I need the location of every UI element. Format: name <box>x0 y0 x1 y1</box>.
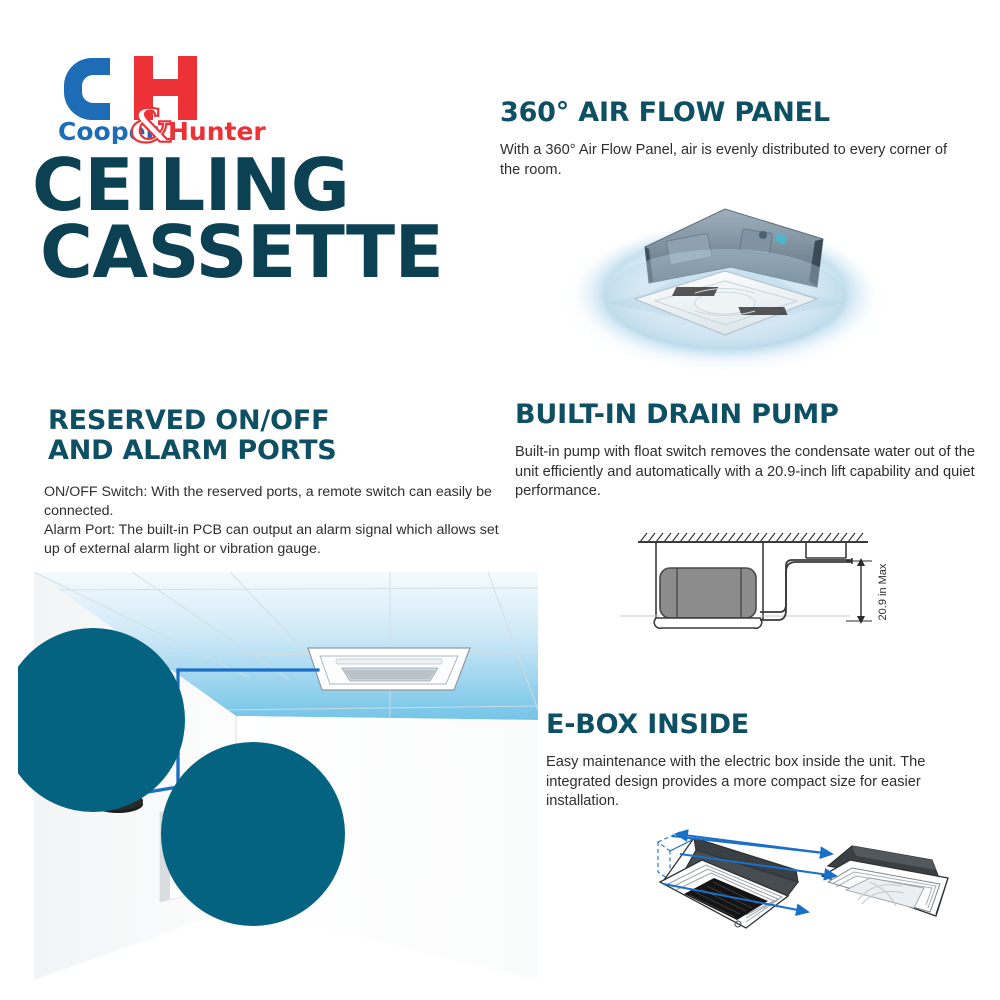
drain-pump-illustration: 20.9 in Max <box>620 520 910 660</box>
section-heading-ebox-inside: E-BOX INSIDE <box>546 710 976 740</box>
ebox-graphic <box>636 820 976 960</box>
air-flow-panel-illustration <box>545 175 905 375</box>
logo-ampersand: & <box>130 99 172 144</box>
ceiling-cassette-unit <box>308 648 470 690</box>
room-installation-graphic <box>18 560 538 980</box>
brand-logo: Cooper & Hunter <box>58 54 268 144</box>
page-title: CEILING CASSETTE <box>32 152 472 286</box>
wall-switch-box <box>160 803 212 902</box>
page-title-line-1: CEILING <box>32 152 472 219</box>
ceiling-slab <box>638 533 868 542</box>
section-drain-pump: BUILT-IN DRAIN PUMP Built-in pump with f… <box>515 400 985 501</box>
section-heading-air-flow-panel: 360° AIR FLOW PANEL <box>500 98 960 128</box>
drain-pipe <box>760 560 852 620</box>
room-installation-illustration <box>18 560 538 980</box>
ebox-unit-right <box>822 846 948 916</box>
brand-logo-graphic: Cooper & Hunter <box>58 54 268 144</box>
section-body-ebox-inside: Easy maintenance with the electric box i… <box>546 753 966 811</box>
dimension-label: 20.9 in Max <box>877 563 889 620</box>
section-body-reserved-ports: ON/OFF Switch: With the reserved ports, … <box>44 483 508 559</box>
section-body-drain-pump: Built-in pump with float switch removes … <box>515 443 983 501</box>
page-title-line-2: CASSETTE <box>40 219 472 286</box>
air-flow-panel-graphic <box>545 175 905 375</box>
section-heading-reserved-ports: RESERVED ON/OFF AND ALARM PORTS <box>48 406 514 466</box>
section-air-flow-panel: 360° AIR FLOW PANEL With a 360° Air Flow… <box>500 98 960 180</box>
logo-word-hunter: Hunter <box>168 117 266 144</box>
section-reserved-ports: RESERVED ON/OFF AND ALARM PORTS ON/OFF S… <box>44 406 514 559</box>
back-wall <box>236 716 538 980</box>
section-heading-drain-pump: BUILT-IN DRAIN PUMP <box>515 400 985 430</box>
dimension-arrow <box>846 558 872 624</box>
section-ebox-inside: E-BOX INSIDE Easy maintenance with the e… <box>546 710 976 811</box>
drain-pump-graphic: 20.9 in Max <box>620 520 910 660</box>
indoor-unit-body <box>620 568 850 628</box>
ebox-illustration <box>636 820 976 960</box>
